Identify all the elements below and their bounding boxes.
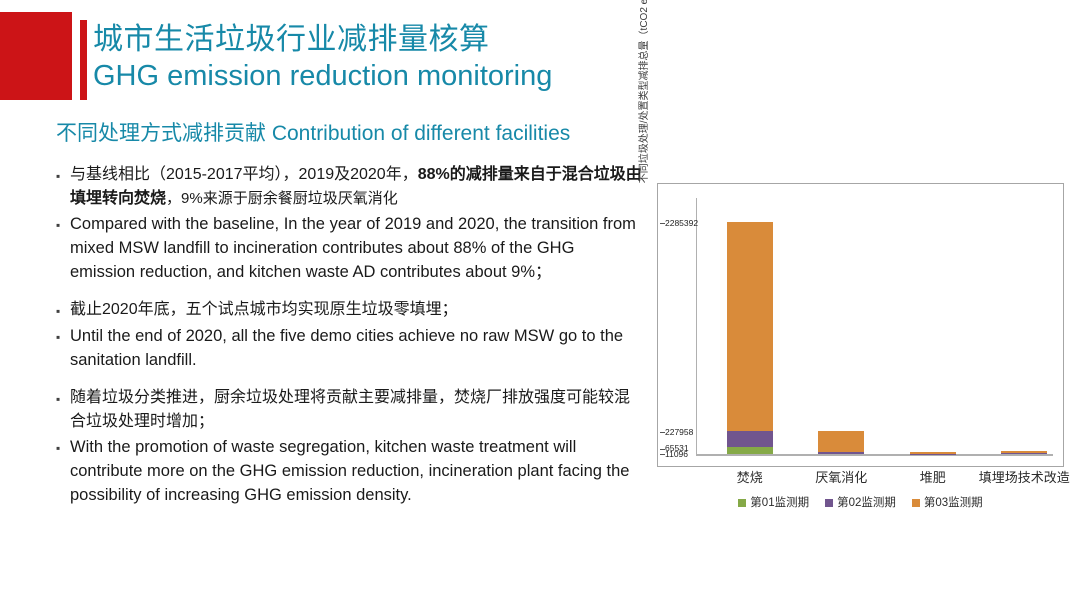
chart-x-axis-line bbox=[696, 454, 1053, 456]
bullet-text: 与基线相比（2015-2017平均），2019及2020年，88%的减排量来自于… bbox=[70, 163, 644, 211]
bullet-item: ▪With the promotion of waste segregation… bbox=[56, 435, 644, 507]
chart-legend-item-1[interactable]: 第01监测期 bbox=[738, 496, 809, 510]
bullet-marker-icon: ▪ bbox=[56, 298, 70, 323]
bullet-item: ▪Until the end of 2020, all the five dem… bbox=[56, 324, 644, 372]
chart-x-label-3: 堆肥 bbox=[920, 469, 946, 487]
value-label-text: 11096 bbox=[665, 449, 688, 459]
chart-x-label-1: 焚烧 bbox=[737, 469, 763, 487]
chart-legend-item-2[interactable]: 第02监测期 bbox=[825, 496, 896, 510]
legend-label: 第01监测期 bbox=[750, 496, 809, 510]
content-body: ▪与基线相比（2015-2017平均），2019及2020年，88%的减排量来自… bbox=[56, 163, 644, 508]
header-accent-bar bbox=[80, 20, 87, 100]
chart-y-axis-line bbox=[696, 198, 697, 456]
bullet-item: ▪Compared with the baseline, In the year… bbox=[56, 212, 644, 284]
bullet-text: Until the end of 2020, all the five demo… bbox=[70, 324, 644, 372]
chart-x-axis-labels: 焚烧厌氧消化堆肥填埋场技术改造 bbox=[657, 469, 1064, 489]
bullet-text-span: With the promotion of waste segregation,… bbox=[70, 438, 629, 504]
page-subtitle: 不同处理方式减排贡献 Contribution of different fac… bbox=[56, 120, 570, 148]
page-title-cn: 城市生活垃圾行业减排量核算 bbox=[93, 22, 793, 58]
chart-bar-segment bbox=[818, 452, 864, 454]
chart-plot-frame: 22853922279586553111096 bbox=[657, 183, 1064, 467]
bullet-group: ▪随着垃圾分类推进，厨余垃圾处理将贡献主要减排量，焚烧厂排放强度可能较混合垃圾处… bbox=[56, 386, 644, 507]
chart-x-label-2: 厌氧消化 bbox=[815, 469, 867, 487]
chart-bar-segment bbox=[727, 447, 773, 454]
chart-bar-segment bbox=[1001, 453, 1047, 454]
bullet-marker-icon: ▪ bbox=[56, 163, 70, 188]
chart-x-label-4: 填埋场技术改造 bbox=[979, 469, 1070, 487]
chart-y-axis-title: 不同垃圾处理/处置类型减排总量（tCO2 e） bbox=[636, 0, 654, 206]
bullet-text-span: 随着垃圾分类推进，厨余垃圾处理将贡献主要减排量，焚烧厂排放强度可能较混合垃圾处理… bbox=[70, 389, 630, 430]
chart-legend-item-3[interactable]: 第03监测期 bbox=[912, 496, 983, 510]
bullet-group: ▪截止2020年底，五个试点城市均实现原生垃圾零填埋；▪Until the en… bbox=[56, 298, 644, 372]
page-title: 城市生活垃圾行业减排量核算 GHG emission reduction mon… bbox=[93, 22, 793, 94]
bullet-text-span: ，9%来源于厨余餐厨垃圾厌氧消化 bbox=[166, 190, 398, 207]
bullet-item: ▪与基线相比（2015-2017平均），2019及2020年，88%的减排量来自… bbox=[56, 163, 644, 211]
legend-label: 第03监测期 bbox=[924, 496, 983, 510]
chart-bar-2 bbox=[818, 431, 864, 454]
bullet-text-span: Compared with the baseline, In the year … bbox=[70, 215, 636, 281]
chart-panel: 不同垃圾处理/处置类型减排总量（tCO2 e） 2285392227958655… bbox=[640, 172, 1064, 520]
bullet-text-span: 截止2020年底，五个试点城市均实现原生垃圾零填埋； bbox=[70, 301, 458, 318]
lbl-total-incineration: 2285392 bbox=[660, 219, 698, 228]
bullet-text-span: Until the end of 2020, all the five demo… bbox=[70, 327, 623, 369]
chart-bar-1 bbox=[727, 222, 773, 454]
header-accent-block bbox=[0, 12, 72, 100]
bullet-text: Compared with the baseline, In the year … bbox=[70, 212, 644, 284]
value-label-text: 227958 bbox=[665, 427, 693, 437]
lbl-seg2-incineration: 227958 bbox=[660, 428, 693, 437]
bullet-text: 随着垃圾分类推进，厨余垃圾处理将贡献主要减排量，焚烧厂排放强度可能较混合垃圾处理… bbox=[70, 386, 644, 434]
legend-label: 第02监测期 bbox=[837, 496, 896, 510]
bullet-marker-icon: ▪ bbox=[56, 435, 70, 460]
page-title-en: GHG emission reduction monitoring bbox=[93, 58, 793, 94]
bullet-text-span: 与基线相比（2015-2017平均），2019及2020年， bbox=[70, 166, 418, 183]
bullet-text: With the promotion of waste segregation,… bbox=[70, 435, 644, 507]
bullet-item: ▪随着垃圾分类推进，厨余垃圾处理将贡献主要减排量，焚烧厂排放强度可能较混合垃圾处… bbox=[56, 386, 644, 434]
bullet-item: ▪截止2020年底，五个试点城市均实现原生垃圾零填埋； bbox=[56, 298, 644, 323]
legend-swatch-icon bbox=[912, 499, 920, 507]
chart-bar-segment bbox=[727, 431, 773, 448]
bullet-text: 截止2020年底，五个试点城市均实现原生垃圾零填埋； bbox=[70, 298, 644, 322]
bullet-marker-icon: ▪ bbox=[56, 212, 70, 237]
bullet-marker-icon: ▪ bbox=[56, 324, 70, 349]
chart-legend: 第01监测期第02监测期第03监测期 bbox=[657, 494, 1064, 512]
legend-swatch-icon bbox=[738, 499, 746, 507]
value-label-text: 2285392 bbox=[665, 218, 698, 228]
chart-bar-4 bbox=[1001, 451, 1047, 454]
chart-bar-3 bbox=[910, 452, 956, 454]
bullet-group: ▪与基线相比（2015-2017平均），2019及2020年，88%的减排量来自… bbox=[56, 163, 644, 284]
chart-bar-segment bbox=[818, 431, 864, 452]
chart-bar-segment bbox=[727, 222, 773, 431]
legend-swatch-icon bbox=[825, 499, 833, 507]
bullet-marker-icon: ▪ bbox=[56, 386, 70, 411]
lbl-base-incineration: 11096 bbox=[660, 450, 688, 459]
chart-plot-area: 22853922279586553111096 bbox=[696, 198, 1053, 456]
